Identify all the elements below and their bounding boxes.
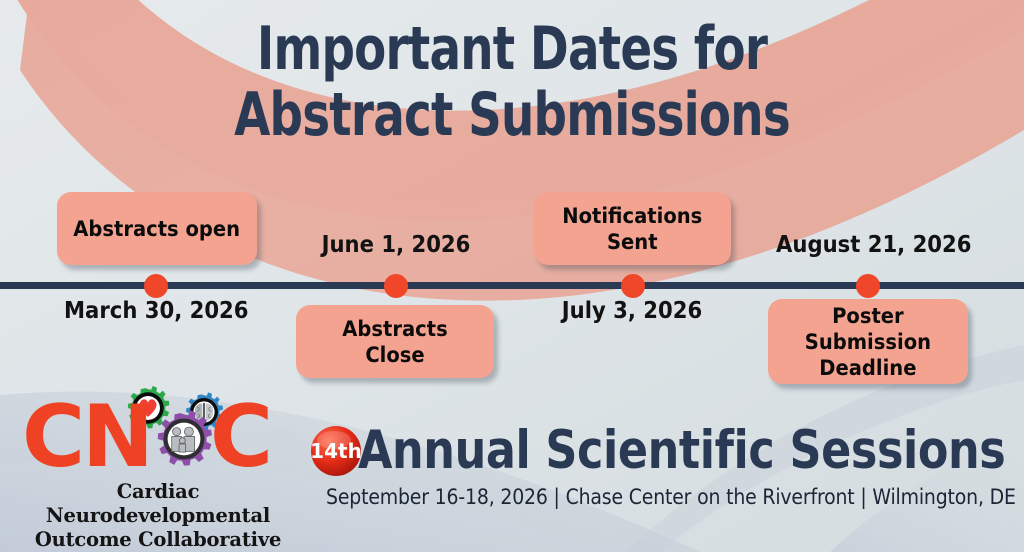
poster-canvas: Important Dates for Abstract Submissions…: [0, 0, 1024, 552]
cnoc-logo[interactable]: C N C: [8, 378, 308, 552]
conference-lockup: 14th Annual Scientific Sessions Septembe…: [308, 420, 1008, 510]
milestone-date-abstracts-close: June 1, 2026: [304, 232, 488, 258]
cnoc-letter-c2: C: [210, 387, 273, 486]
cnoc-letter-c1: C: [22, 387, 85, 486]
milestone-dot-poster-deadline[interactable]: [856, 274, 880, 298]
milestone-pill-abstracts-open[interactable]: Abstracts open: [57, 192, 257, 265]
cnoc-letter-n: N: [82, 387, 154, 486]
milestone-date-abstracts-open: March 30, 2026: [64, 298, 248, 324]
milestone-pill-label: Abstracts Close: [303, 316, 487, 368]
cnoc-logo-svg: C N C: [8, 378, 308, 486]
milestone-dot-notifications-sent[interactable]: [621, 274, 645, 298]
cnoc-logo-mark: C N C: [8, 378, 308, 478]
ordinal-badge-svg: 14th: [308, 423, 364, 479]
milestone-pill-label: Notifications Sent: [555, 203, 710, 255]
milestone-pill-label: Abstracts open: [66, 216, 248, 242]
milestone-pill-abstracts-close[interactable]: Abstracts Close: [296, 305, 494, 378]
milestone-dot-abstracts-close[interactable]: [384, 274, 408, 298]
title-line-1: Important Dates for: [113, 16, 912, 82]
title-line-2: Abstract Submissions: [113, 82, 912, 148]
milestone-pill-poster-deadline[interactable]: Poster Submission Deadline: [768, 299, 968, 384]
cnoc-tagline-line-1: Cardiac Neurodevelopmental: [8, 480, 308, 528]
cnoc-tagline: Cardiac Neurodevelopmental Outcome Colla…: [8, 480, 308, 552]
conference-title-row: 14th Annual Scientific Sessions: [308, 420, 1008, 482]
cnoc-tagline-line-2: Outcome Collaborative: [8, 528, 308, 552]
milestone-date-poster-deadline: August 21, 2026: [776, 232, 960, 258]
family-gear-icon: [158, 410, 212, 465]
ordinal-badge-text: 14th: [310, 439, 362, 463]
milestone-pill-label: Poster Submission Deadline: [797, 303, 938, 381]
ordinal-badge: 14th: [308, 423, 364, 479]
milestone-pill-notifications-sent[interactable]: Notifications Sent: [534, 192, 731, 265]
conference-title: Annual Scientific Sessions: [358, 423, 1005, 479]
conference-details: September 16-18, 2026 | Chase Center on …: [326, 484, 940, 510]
page-title: Important Dates for Abstract Submissions: [0, 16, 1024, 148]
milestone-date-notifications-sent: July 3, 2026: [541, 298, 723, 324]
milestone-dot-abstracts-open[interactable]: [144, 274, 168, 298]
